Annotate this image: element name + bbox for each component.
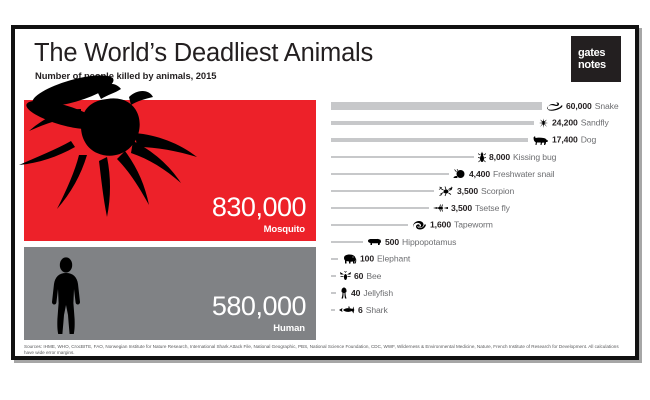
jellyfish-icon bbox=[340, 287, 348, 299]
bar-track bbox=[331, 275, 336, 277]
sources-footnote: Sources: IHME, WHO, CrocBITE, FAO, Norwe… bbox=[24, 344, 624, 357]
bar-row-label: 500Hippopotamus bbox=[367, 237, 456, 247]
bar-row: 40Jellyfish bbox=[331, 284, 631, 301]
bee-icon bbox=[340, 271, 351, 281]
bar-animal-name: Tsetse fly bbox=[475, 203, 510, 213]
bar-row-label: 1,600Tapeworm bbox=[412, 219, 493, 230]
bar-row-label: 3,500Scorpion bbox=[438, 185, 514, 197]
bar-animal-name: Elephant bbox=[377, 254, 410, 264]
bar-track bbox=[331, 207, 429, 209]
bar-row: 4,400Freshwater snail bbox=[331, 165, 631, 182]
gates-notes-logo: gates notes bbox=[571, 36, 621, 82]
dog-icon bbox=[532, 134, 549, 145]
bar-row: 6Shark bbox=[331, 301, 631, 318]
bar-value: 4,400 bbox=[469, 169, 490, 179]
bar-track bbox=[331, 121, 534, 125]
bar-track bbox=[331, 138, 528, 142]
logo-line-1: gates bbox=[578, 47, 621, 60]
bar-animal-name: Dog bbox=[581, 135, 596, 145]
bar-value: 40 bbox=[351, 288, 360, 298]
scorpion-icon bbox=[438, 185, 454, 197]
bar-row-label: 3,500Tsetse fly bbox=[433, 203, 510, 213]
bar-value: 8,000 bbox=[489, 152, 510, 162]
bar-row-label: 17,400Dog bbox=[532, 134, 596, 145]
bar-row: 60Bee bbox=[331, 267, 631, 284]
bar-track bbox=[331, 309, 335, 311]
shark-icon bbox=[339, 306, 355, 314]
bar-row: 24,200Sandfly bbox=[331, 114, 631, 131]
bar-animal-name: Shark bbox=[366, 305, 388, 315]
hippopotamus-icon bbox=[367, 237, 382, 246]
bar-animal-name: Jellyfish bbox=[363, 288, 393, 298]
bar-track bbox=[331, 102, 542, 110]
bar-animal-name: Tapeworm bbox=[454, 220, 493, 230]
bar-row: 17,400Dog bbox=[331, 131, 631, 148]
bar-animal-name: Snake bbox=[595, 101, 619, 111]
kissing-bug-icon bbox=[478, 151, 486, 163]
snake-icon bbox=[546, 101, 563, 111]
human-highlight-block: 580,000 Human bbox=[24, 247, 316, 340]
bar-animal-name: Sandfly bbox=[581, 118, 609, 128]
bar-row: 500Hippopotamus bbox=[331, 233, 631, 250]
tapeworm-icon bbox=[412, 219, 427, 230]
bar-track bbox=[331, 258, 338, 260]
bar-row: 60,000Snake bbox=[331, 97, 631, 114]
snail-icon bbox=[453, 169, 466, 179]
bar-row: 3,500Scorpion bbox=[331, 182, 631, 199]
bar-value: 60,000 bbox=[566, 101, 592, 111]
bar-row-label: 40Jellyfish bbox=[340, 287, 393, 299]
bar-value: 6 bbox=[358, 305, 363, 315]
bar-row: 8,000Kissing bug bbox=[331, 148, 631, 165]
bar-animal-name: Scorpion bbox=[481, 186, 514, 196]
human-value: 580,000 bbox=[212, 293, 306, 320]
bar-row: 100Elephant bbox=[331, 250, 631, 267]
infographic-poster: The World’s Deadliest Animals Number of … bbox=[11, 25, 639, 360]
bar-row: 3,500Tsetse fly bbox=[331, 199, 631, 216]
bar-track bbox=[331, 173, 449, 175]
bar-value: 100 bbox=[360, 254, 374, 264]
page-subtitle: Number of people killed by animals, 2015 bbox=[35, 70, 216, 81]
bar-value: 3,500 bbox=[451, 203, 472, 213]
bar-row-label: 60Bee bbox=[340, 271, 381, 281]
bar-track bbox=[331, 224, 408, 226]
bar-track bbox=[331, 190, 434, 192]
bar-value: 60 bbox=[354, 271, 363, 281]
bar-track bbox=[331, 241, 363, 243]
human-label: Human bbox=[273, 324, 305, 334]
bar-track bbox=[331, 292, 336, 294]
mosquito-value: 830,000 bbox=[212, 194, 306, 221]
mosquito-label: Mosquito bbox=[264, 225, 305, 235]
elephant-icon bbox=[342, 253, 357, 264]
bar-value: 500 bbox=[385, 237, 399, 247]
bar-row: 1,600Tapeworm bbox=[331, 216, 631, 233]
bar-animal-name: Kissing bug bbox=[513, 152, 556, 162]
bar-value: 3,500 bbox=[457, 186, 478, 196]
bar-row-label: 60,000Snake bbox=[546, 101, 619, 111]
bar-row-label: 24,200Sandfly bbox=[538, 117, 609, 128]
sandfly-icon bbox=[538, 117, 549, 128]
bar-animal-name: Freshwater snail bbox=[493, 169, 554, 179]
bar-animal-name: Bee bbox=[366, 271, 381, 281]
bar-row-label: 8,000Kissing bug bbox=[478, 151, 556, 163]
bar-row-label: 4,400Freshwater snail bbox=[453, 169, 554, 179]
bar-row-label: 6Shark bbox=[339, 305, 388, 315]
bar-value: 17,400 bbox=[552, 135, 578, 145]
bar-animal-name: Hippopotamus bbox=[402, 237, 456, 247]
page-title: The World’s Deadliest Animals bbox=[34, 39, 373, 68]
ranked-bar-list: 60,000Snake24,200Sandfly17,400Dog8,000Ki… bbox=[331, 97, 631, 318]
bar-value: 1,600 bbox=[430, 220, 451, 230]
bar-value: 24,200 bbox=[552, 118, 578, 128]
tsetse-fly-icon bbox=[433, 204, 448, 212]
mosquito-highlight-block: 830,000 Mosquito bbox=[24, 100, 316, 241]
bar-track bbox=[331, 156, 474, 158]
bar-row-label: 100Elephant bbox=[342, 253, 410, 264]
logo-line-2: notes bbox=[578, 59, 621, 72]
